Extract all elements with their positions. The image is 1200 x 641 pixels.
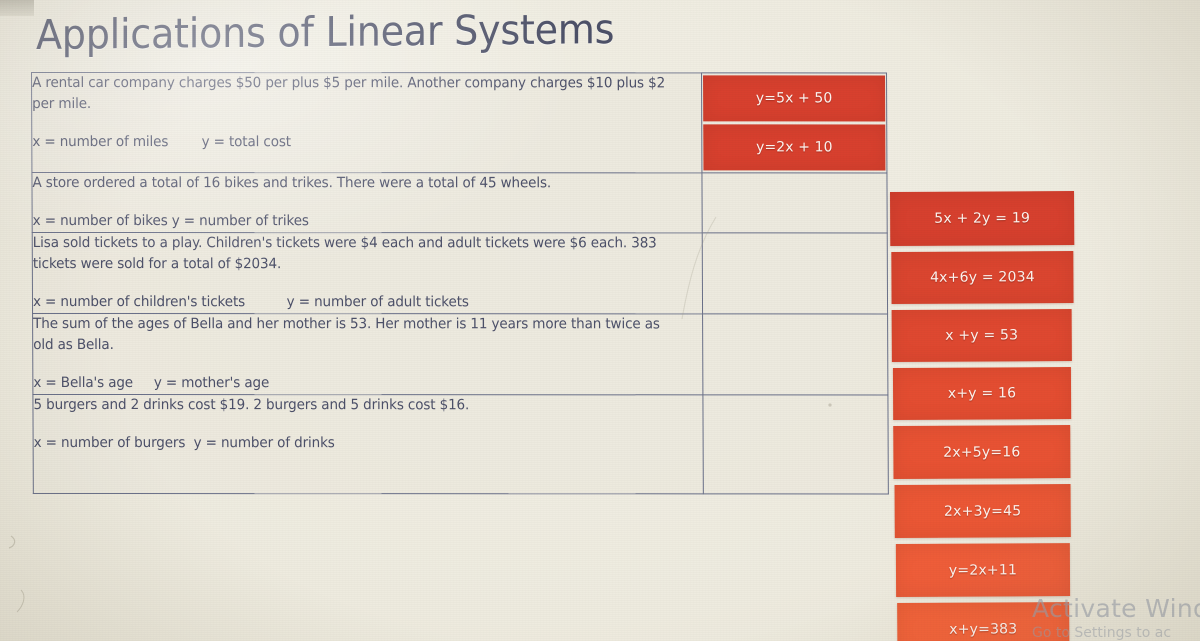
- table-row: The sum of the ages of Bella and her mot…: [33, 313, 888, 394]
- line-spacer: [32, 115, 671, 132]
- problem-statement: 5 burgers and 2 drinks cost $19. 2 burge…: [33, 397, 469, 413]
- line-spacer: [34, 416, 673, 433]
- problem-variables: x = number of bikes y = number of trikes: [33, 213, 309, 229]
- answer-tile[interactable]: 2x+3y=45: [895, 484, 1071, 538]
- answer-tile[interactable]: 5x + 2y = 19: [890, 191, 1074, 246]
- answer-chip[interactable]: y=2x + 10: [703, 124, 885, 170]
- table-row: 5 burgers and 2 drinks cost $19. 2 burge…: [33, 394, 888, 493]
- problem-statement: A rental car company charges $50 per plu…: [32, 75, 665, 112]
- problems-table-wrapper: A rental car company charges $50 per plu…: [31, 72, 888, 494]
- problems-table: A rental car company charges $50 per plu…: [31, 72, 889, 494]
- problem-statement: The sum of the ages of Bella and her mot…: [33, 316, 660, 353]
- answer-tile[interactable]: x +y = 53: [892, 309, 1072, 362]
- problem-statement: Lisa sold tickets to a play. Children's …: [33, 235, 657, 272]
- problem-cell: Lisa sold tickets to a play. Children's …: [32, 232, 702, 313]
- answer-cell-empty[interactable]: [703, 395, 888, 494]
- problem-variables: x = number of miles y = total cost: [32, 134, 291, 150]
- answer-cell-empty[interactable]: [703, 314, 888, 395]
- answer-chip-stack: y=5x + 50 y=2x + 10: [702, 73, 886, 172]
- line-spacer: [33, 194, 672, 211]
- problem-variables: x = number of burgers y = number of drin…: [34, 435, 335, 451]
- answer-bank: 5x + 2y = 19 4x+6y = 2034 x +y = 53 x+y …: [890, 191, 1078, 641]
- problem-statement: A store ordered a total of 16 bikes and …: [32, 175, 551, 191]
- answer-tile[interactable]: 2x+5y=16: [893, 425, 1070, 479]
- answer-tile[interactable]: x+y=383: [897, 602, 1069, 641]
- answer-tile[interactable]: y=2x+11: [896, 543, 1070, 597]
- table-row: Lisa sold tickets to a play. Children's …: [32, 232, 887, 313]
- table-row: A store ordered a total of 16 bikes and …: [32, 172, 887, 232]
- problem-variables: x = number of children's tickets y = num…: [33, 294, 469, 310]
- table-row: A rental car company charges $50 per plu…: [32, 73, 887, 173]
- answer-tile[interactable]: x+y = 16: [893, 367, 1071, 420]
- answer-chip[interactable]: y=5x + 50: [703, 75, 885, 121]
- line-spacer: [33, 356, 672, 373]
- photo-edge-shadow: [0, 0, 34, 16]
- line-spacer: [33, 275, 672, 292]
- pencil-smudge-icon: [5, 530, 35, 620]
- answer-cell[interactable]: y=5x + 50 y=2x + 10: [702, 73, 887, 173]
- problem-variables: x = Bella's age y = mother's age: [33, 375, 269, 391]
- page-title: Applications of Linear Systems: [36, 2, 614, 62]
- problem-cell: The sum of the ages of Bella and her mot…: [33, 313, 703, 394]
- problem-cell: 5 burgers and 2 drinks cost $19. 2 burge…: [33, 394, 703, 493]
- problem-cell: A rental car company charges $50 per plu…: [32, 73, 702, 173]
- problem-cell: A store ordered a total of 16 bikes and …: [32, 172, 702, 232]
- answer-cell-empty[interactable]: [702, 173, 887, 233]
- answer-tile[interactable]: 4x+6y = 2034: [891, 251, 1073, 304]
- worksheet-page: Applications of Linear Systems A rental …: [0, 0, 1200, 641]
- answer-cell-empty[interactable]: [702, 233, 887, 314]
